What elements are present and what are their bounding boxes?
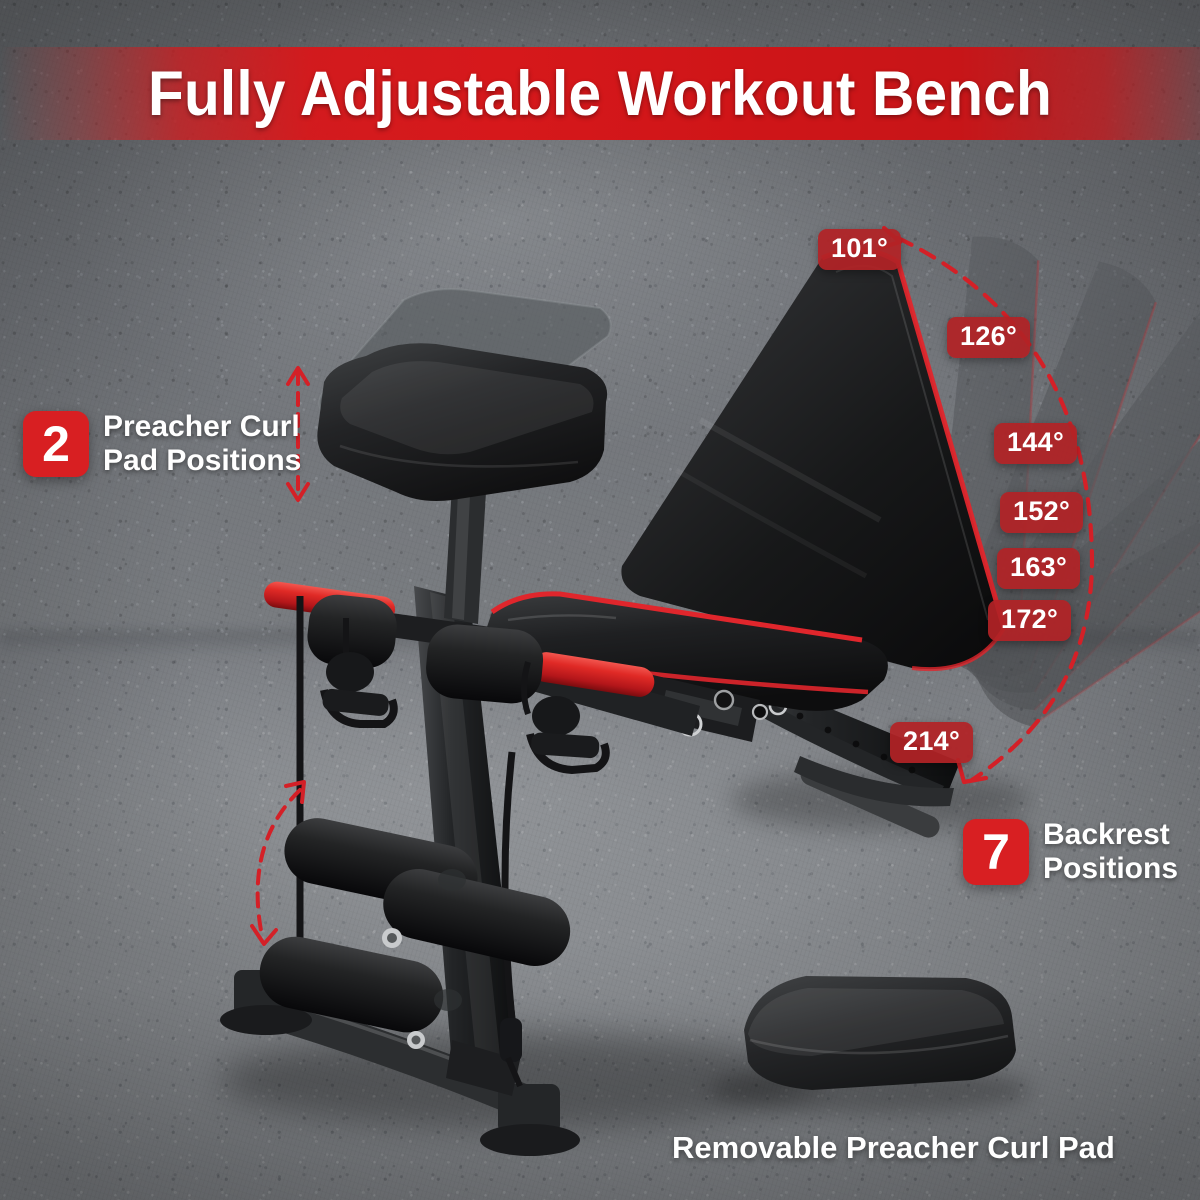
curved-rotation-arrow-icon — [252, 782, 304, 944]
angle-badge-152: 152° — [1000, 492, 1083, 533]
callout-count-chip-2: 2 — [23, 411, 89, 477]
callout-backrest-positions: 7 Backrest Positions — [963, 818, 1178, 886]
removable-pad-caption: Removable Preacher Curl Pad — [672, 1130, 1115, 1166]
callout-preacher-curl-positions: 2 Preacher Curl Pad Positions — [23, 410, 301, 478]
angle-badge-144: 144° — [994, 423, 1077, 464]
angle-badge-214: 214° — [890, 722, 973, 763]
angle-badge-172: 172° — [988, 600, 1071, 641]
angle-badge-101: 101° — [818, 229, 901, 270]
callout-label-preacher: Preacher Curl Pad Positions — [103, 410, 301, 478]
callout-count-chip-7: 7 — [963, 819, 1029, 885]
angle-badge-163: 163° — [997, 548, 1080, 589]
callout-label-backrest: Backrest Positions — [1043, 818, 1178, 886]
angle-badge-126: 126° — [947, 317, 1030, 358]
arc-arrowhead-bottom-icon — [958, 760, 986, 782]
infographic-canvas: Fully Adjustable Workout Bench — [0, 0, 1200, 1200]
